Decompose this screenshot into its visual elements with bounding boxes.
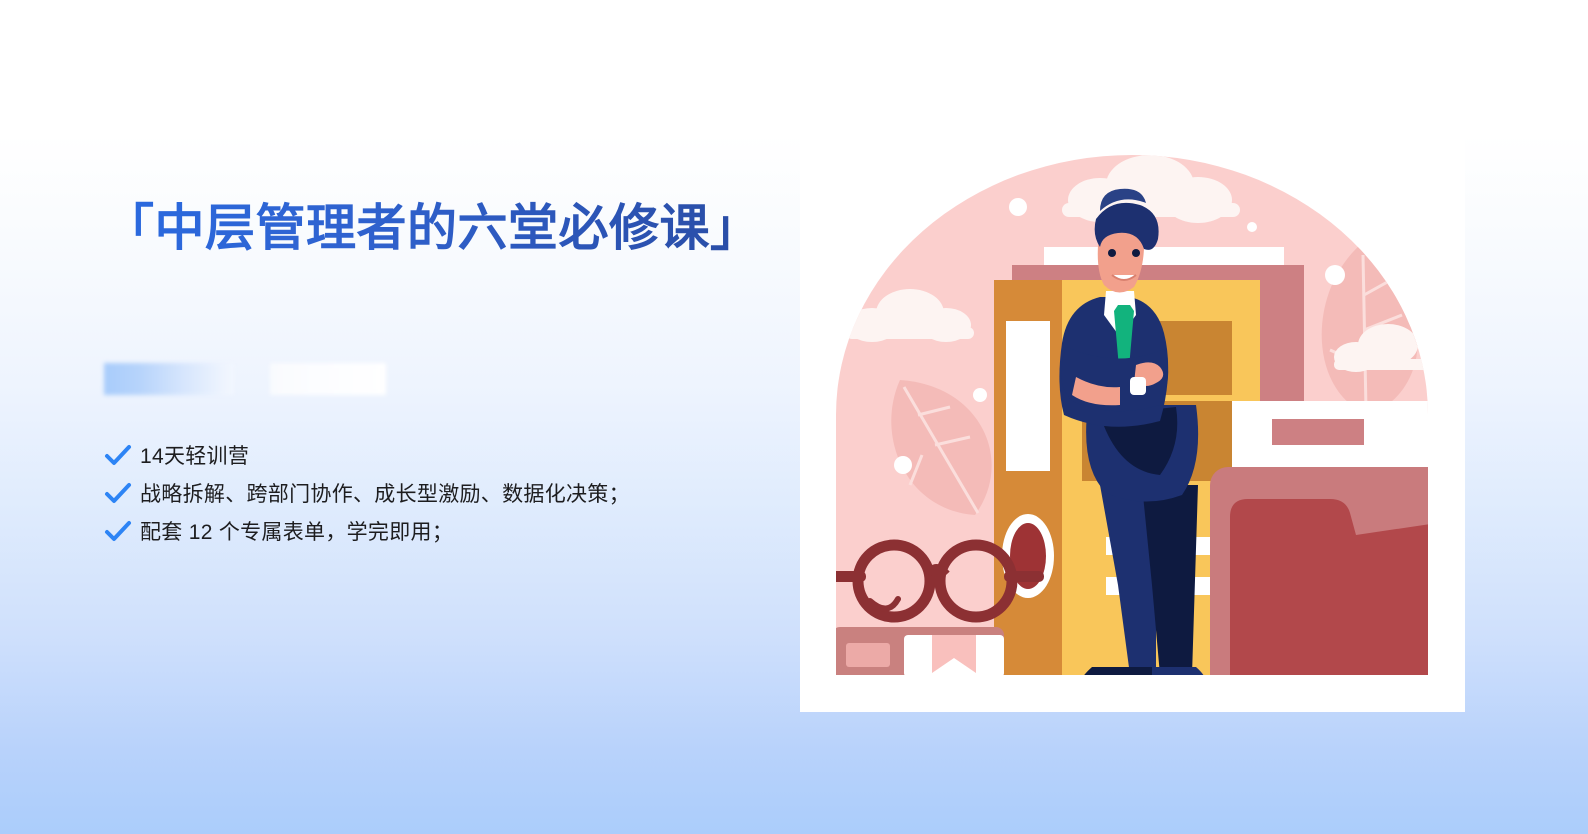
list-item-label: 配套 12 个专属表单，学完即用； — [140, 516, 453, 550]
trademark-symbol: ™ — [256, 267, 282, 297]
redacted-white-bar — [270, 363, 386, 395]
check-icon — [104, 478, 140, 506]
redacted-blue-bar — [104, 363, 234, 395]
page-title: 「中层管理者的六堂必修课」 轻训营™ — [104, 196, 824, 324]
headline-line-2-text: 轻训营 — [104, 264, 256, 320]
list-item: 配套 12 个专属表单，学完即用； — [104, 516, 824, 550]
headline-line-1: 「中层管理者的六堂必修课」 — [104, 196, 824, 260]
check-icon — [104, 516, 140, 544]
headline-line-2: 轻训营™ — [104, 260, 824, 324]
list-item: 战略拆解、跨部门协作、成长型激励、数据化决策； — [104, 478, 824, 512]
binder-spine — [994, 280, 1062, 712]
list-item-label: 14天轻训营 — [140, 440, 249, 474]
office-manager-illustration — [800, 115, 1465, 712]
feature-list: 14天轻训营 战略拆解、跨部门协作、成长型激励、数据化决策； 配套 12 个专属… — [104, 440, 824, 550]
list-item: 14天轻训营 — [104, 440, 824, 474]
list-item-label: 战略拆解、跨部门协作、成长型激励、数据化决策； — [140, 478, 630, 512]
illustration-card — [800, 115, 1465, 712]
redacted-text-row — [104, 362, 824, 396]
check-icon — [104, 440, 140, 468]
text-column: 「中层管理者的六堂必修课」 轻训营™ 14天轻训营 战略拆解、跨部门协作、成长型 — [104, 196, 824, 554]
